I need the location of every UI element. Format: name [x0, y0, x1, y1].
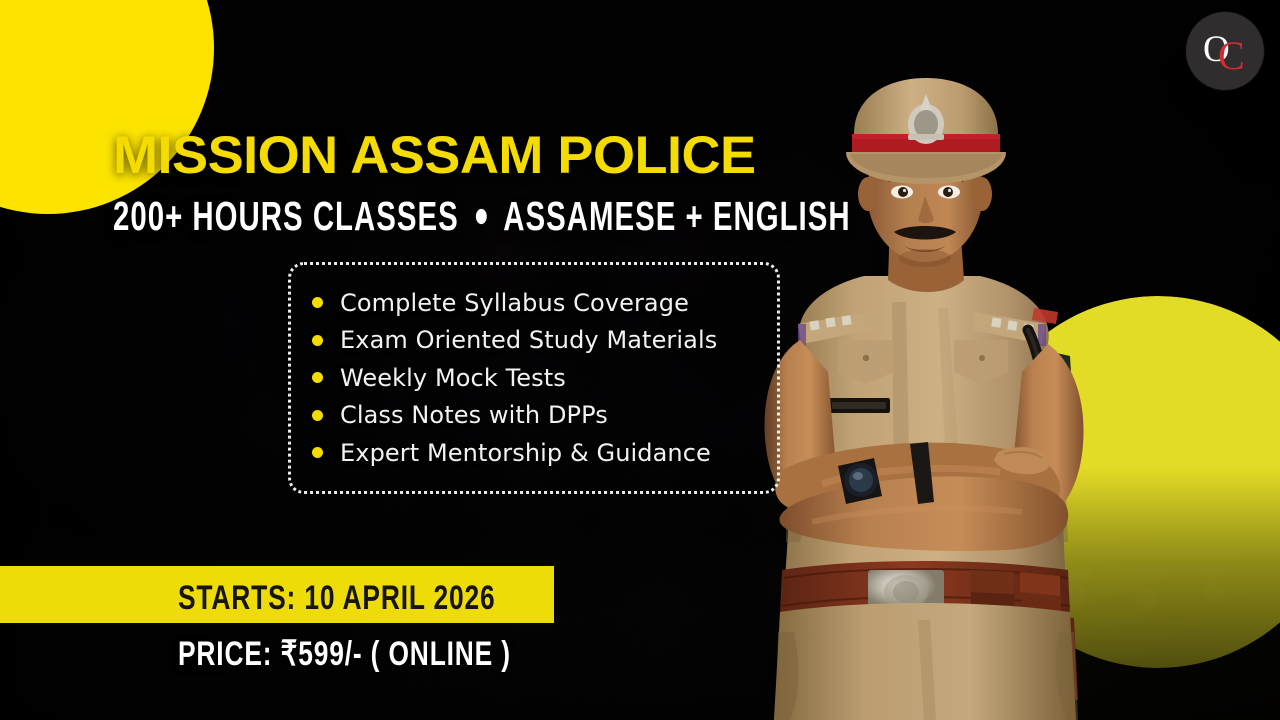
list-item: Class Notes with DPPs — [312, 397, 717, 435]
wristwatch — [838, 458, 882, 504]
bullet-dot-icon — [312, 372, 323, 383]
price-text: PRICE: ₹599/- ( ONLINE ) — [178, 628, 511, 678]
feature-list: Complete Syllabus Coverage Exam Oriented… — [312, 284, 717, 472]
bullet-dot-icon — [312, 447, 323, 458]
subtitle-hours: 200+ HOURS CLASSES — [113, 196, 459, 237]
list-item: Exam Oriented Study Materials — [312, 322, 717, 360]
feature-label: Exam Oriented Study Materials — [340, 326, 717, 354]
starts-date-text: STARTS: 10 APRIL 2026 — [178, 572, 496, 622]
police-cap — [846, 78, 1006, 184]
list-item: Weekly Mock Tests — [312, 359, 717, 397]
feature-label: Class Notes with DPPs — [340, 401, 608, 429]
feature-label: Expert Mentorship & Guidance — [340, 439, 711, 467]
bullet-dot-icon — [312, 297, 323, 308]
police-officer-photo — [742, 72, 1102, 720]
subtitle-languages: ASSAMESE + ENGLISH — [503, 196, 850, 237]
subtitle: 200+ HOURS CLASSES ASSAMESE + ENGLISH — [113, 196, 851, 237]
bullet-dot-icon — [312, 335, 323, 346]
list-item: Expert Mentorship & Guidance — [312, 434, 717, 472]
svg-text:C: C — [1218, 33, 1245, 77]
page-title: MISSION ASSAM POLICE — [113, 129, 756, 182]
bullet-dot-icon — [312, 410, 323, 421]
list-item: Complete Syllabus Coverage — [312, 284, 717, 322]
promo-poster: O C MISSION ASSAM POLICE 200+ HOURS CLAS… — [0, 0, 1280, 720]
feature-label: Complete Syllabus Coverage — [340, 289, 689, 317]
feature-label: Weekly Mock Tests — [340, 364, 566, 392]
dot-separator-icon — [476, 209, 487, 224]
brand-logo[interactable]: O C — [1186, 12, 1264, 90]
oc-monogram-icon: O C — [1199, 25, 1251, 77]
